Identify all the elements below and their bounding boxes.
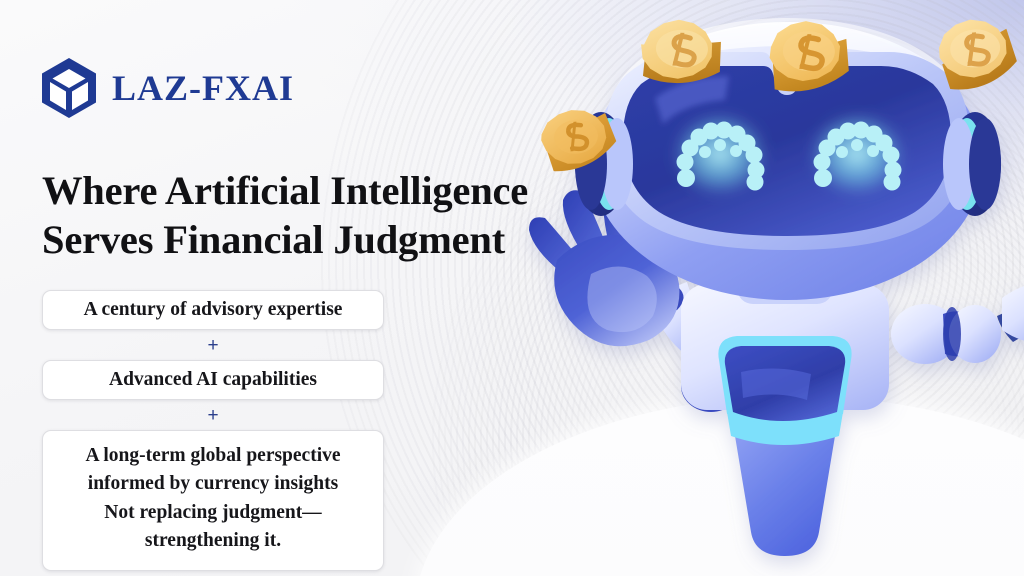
value-prop-card-3-line-1: A long-term global perspective: [53, 442, 373, 470]
robot-right-arm: [891, 282, 1024, 364]
coin-1: [620, 0, 746, 117]
robot-torso: [681, 284, 889, 424]
value-prop-card-2-label: Advanced AI capabilities: [109, 369, 317, 390]
value-prop-card-1-label: A century of advisory expertise: [84, 299, 343, 320]
brand-name: LAZ-FXAI: [112, 70, 294, 106]
hexagon-cube-icon: [40, 57, 98, 119]
headline-line-2: Serves Financial Judgment: [42, 217, 505, 262]
hero-content: LAZ-FXAI Where Artificial Intelligence S…: [40, 0, 470, 576]
robot-eye-left: [672, 112, 768, 196]
robot-lower-body: [727, 412, 843, 556]
value-prop-list: A century of advisory expertise + Advanc…: [42, 290, 384, 571]
robot-ear-right: [943, 112, 1001, 216]
value-prop-card-3-line-3: Not replacing judgment—: [53, 499, 373, 527]
brand-logo[interactable]: LAZ-FXAI: [40, 57, 294, 119]
coin-2: [748, 0, 875, 124]
page-title: Where Artificial Intelligence Serves Fin…: [42, 166, 602, 265]
plus-separator-1: +: [42, 330, 384, 360]
value-prop-card-3: A long-term global perspective informed …: [42, 430, 384, 571]
plus-separator-2: +: [42, 400, 384, 430]
headline-line-1: Where Artificial Intelligence: [42, 168, 528, 213]
hero-banner: LAZ-FXAI Where Artificial Intelligence S…: [0, 0, 1024, 576]
value-prop-card-3-line-4: strengthening it.: [53, 527, 373, 555]
value-prop-card-3-line-2: informed by currency insights: [53, 470, 373, 498]
robot-eye-right: [809, 112, 905, 196]
value-prop-card-1: A century of advisory expertise: [42, 290, 384, 330]
value-prop-card-2: Advanced AI capabilities: [42, 360, 384, 400]
